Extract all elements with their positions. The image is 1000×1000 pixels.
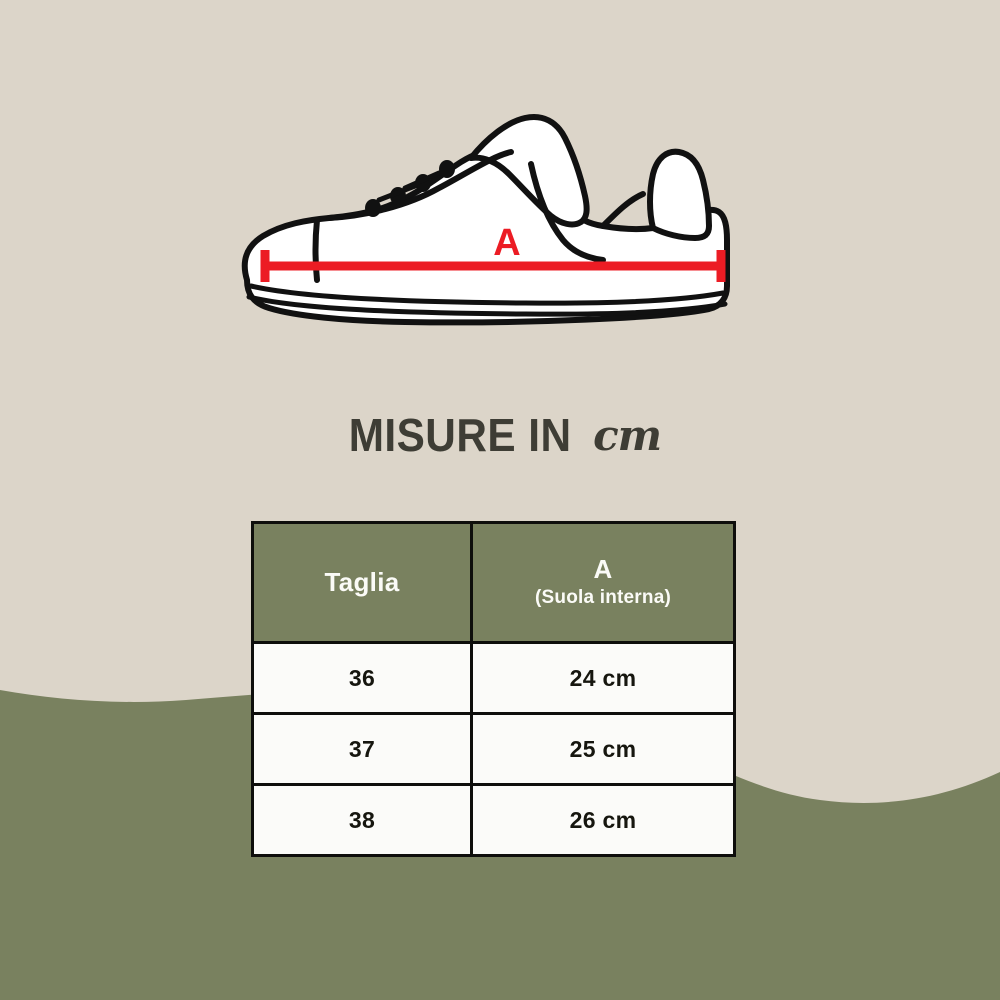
size-table-head: Taglia A (Suola interna) xyxy=(253,523,735,643)
header-measure-sublabel: (Suola interna) xyxy=(473,588,733,609)
cell-measure: 25 cm xyxy=(472,714,735,785)
header-size-label: Taglia xyxy=(254,569,470,596)
cell-measure: 24 cm xyxy=(472,643,735,714)
size-table: Taglia A (Suola interna) 3624 cm3725 cm3… xyxy=(251,521,736,857)
cell-measure: 26 cm xyxy=(472,785,735,856)
size-chart-canvas: A MISURE INcm Taglia A (Suola interna) 3… xyxy=(0,0,1000,1000)
header-cell-size: Taglia xyxy=(253,523,472,643)
cell-size: 37 xyxy=(253,714,472,785)
table-row: 3826 cm xyxy=(253,785,735,856)
cell-size: 36 xyxy=(253,643,472,714)
cell-size: 38 xyxy=(253,785,472,856)
table-row: 3725 cm xyxy=(253,714,735,785)
table-header-row: Taglia A (Suola interna) xyxy=(253,523,735,643)
measurement-label-a: A xyxy=(493,222,520,264)
header-cell-measure: A (Suola interna) xyxy=(472,523,735,643)
page-title-main: MISURE IN xyxy=(349,408,572,462)
size-table-body: 3624 cm3725 cm3826 cm xyxy=(253,643,735,856)
header-measure-label: A xyxy=(473,556,733,583)
sneaker-illustration: A xyxy=(225,100,755,345)
page-title: MISURE INcm xyxy=(0,408,1000,462)
page-title-unit: cm xyxy=(593,411,661,460)
table-row: 3624 cm xyxy=(253,643,735,714)
